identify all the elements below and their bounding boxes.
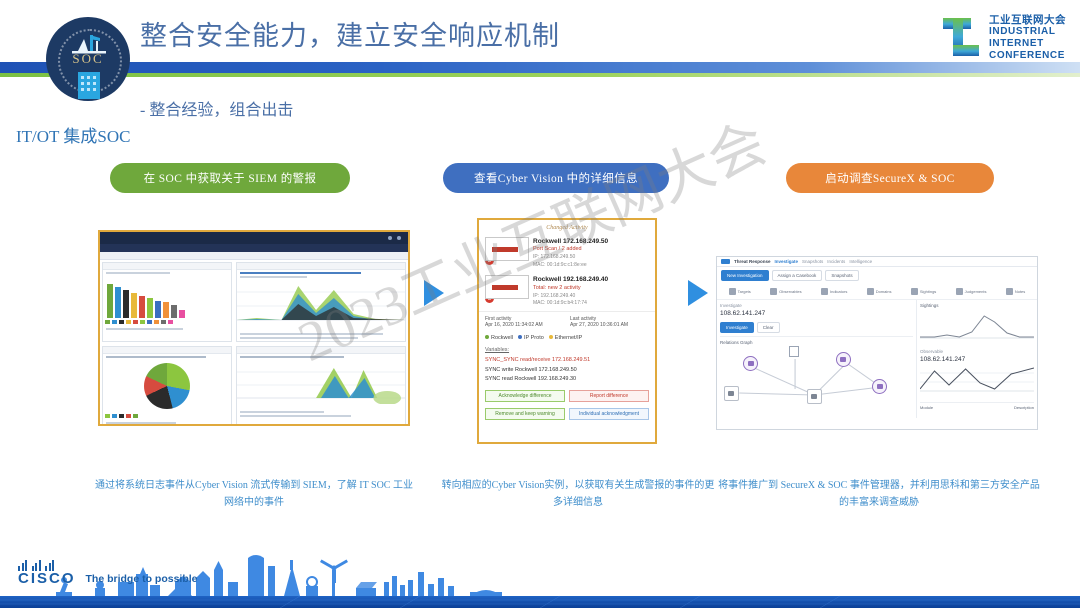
step-caption-1: 通过将系统日志事件从Cyber Vision 流式传输到 SIEM，了解 IT … [92, 478, 416, 511]
flow-arrow-2-icon [688, 280, 708, 306]
step-pill-3[interactable]: 启动调查SecureX & SOC [786, 163, 994, 193]
graph-node-host[interactable] [743, 356, 758, 371]
siem-titlebar [100, 232, 408, 244]
header-stripe-blue [0, 62, 1080, 73]
cv-action-row-1: Acknowledge difference Report difference [479, 387, 655, 405]
module-column-label: Module [920, 405, 933, 410]
securex-titlebar: Threat Response Investigate Snapshots In… [717, 257, 1037, 267]
section-label: IT/OT 集成SOC [16, 122, 130, 147]
securex-detail-pane: Sightings Observable 108.62.141.247 Modu… [917, 300, 1037, 418]
remove-and-keep-warning-button[interactable]: Remove and keep warning [485, 408, 565, 420]
stat-domains: Domains [867, 288, 892, 295]
screenshot-siem-dashboard[interactable] [98, 230, 410, 426]
report-difference-button[interactable]: Report difference [569, 390, 649, 402]
securex-tab-bar: New Investigation Assign a Casebook Snap… [717, 267, 1037, 284]
cv-device-name: Rockwell 192.168.249.40 [533, 275, 608, 284]
stat-judgements: Judgements [956, 288, 987, 295]
cv-title: Changed Activity [479, 220, 655, 234]
cv-variable-item: SYNC_SYNC read/receive 172.168.249.51 [485, 356, 649, 366]
cv-device-mac: MAC: 00:1d:9c:c1:8e:ee [533, 262, 608, 270]
tab-new-investigation[interactable]: New Investigation [721, 270, 769, 281]
individual-acknowledgment-button[interactable]: Individual acknowledgment [569, 408, 649, 420]
relations-graph[interactable] [720, 345, 913, 411]
cv-device-mac: MAC: 00:1d:9c:b4:17:74 [533, 300, 608, 308]
conference-name-line3: CONFERENCE [989, 50, 1066, 62]
cv-device-thumbnail [485, 237, 529, 261]
step-caption-2: 转向相应的Cyber Vision实例，以获取有关生成警报的事件的更多详细信息 [438, 478, 718, 511]
tab-assign-casebook[interactable]: Assign a Casebook [772, 270, 823, 281]
soc-badge-icon: SOC [46, 17, 130, 101]
cv-device-row[interactable]: 2 Rockwell 172.168.249.50 Port Scan / 2 … [479, 234, 655, 272]
bar-chart [103, 276, 231, 318]
pie-chart [144, 363, 190, 409]
screenshot-cyber-vision[interactable]: Changed Activity 2 Rockwell 172.168.249.… [477, 218, 657, 444]
cv-device-status: Total: new 2 activity [533, 285, 608, 293]
clear-button[interactable]: Clear [757, 322, 780, 333]
area-chart-1 [237, 280, 405, 326]
securex-stat-bar: Targets Observables Indicators Domains S… [717, 284, 1037, 300]
sightings-sparkline [920, 308, 1034, 342]
slide: SOC 整合安全能力，建立安全响应机制 - 整合经验，组合出击 IT/OT 集成… [0, 0, 1080, 608]
cv-activity-times: First activity Apr 16, 2020 11:34:02 AM … [479, 311, 655, 332]
relations-graph-label: Relations Graph [720, 336, 913, 345]
step-pill-2[interactable]: 查看Cyber Vision 中的详细信息 [443, 163, 669, 193]
bar-chart-legend [103, 318, 231, 326]
cv-device-ip: IP: 192.168.249.40 [533, 293, 608, 301]
sighting-icon [911, 288, 918, 295]
header-stripe-green [0, 73, 1080, 77]
graph-node-center[interactable] [807, 389, 822, 404]
conference-mark-icon [939, 15, 981, 61]
siem-navbar [100, 244, 408, 252]
observable-icon [770, 288, 777, 295]
cv-last-activity-value: Apr 27, 2020 10:36:01 AM [570, 322, 649, 328]
step-caption-3: 将事件推广到 SecureX & SOC 事件管理器，并利用思科和第三方安全产品… [714, 478, 1044, 511]
soc-badge-label: SOC [46, 51, 130, 67]
acknowledge-difference-button[interactable]: Acknowledge difference [485, 390, 565, 402]
building-icon [78, 72, 100, 99]
step-pill-1[interactable]: 在 SOC 中获取关于 SIEM 的警报 [110, 163, 350, 193]
document-icon [789, 346, 799, 357]
description-column-label: Description [1014, 405, 1034, 410]
stat-targets: Targets [729, 288, 751, 295]
cv-first-activity-value: Apr 16, 2020 11:34:02 AM [485, 322, 564, 328]
footer: CISCO The bridge to possible [0, 552, 1080, 608]
siem-area-chart-panel [236, 262, 406, 342]
flow-arrow-1-icon [424, 280, 444, 306]
siem-bar-chart-panel [102, 262, 232, 342]
cisco-tagline: The bridge to possible [86, 573, 198, 586]
cv-device-thumbnail [485, 275, 529, 299]
cv-tag-list: Rockwell IP Proto Ethernet/IP [479, 332, 655, 344]
cv-variable-item: SYNC read Rockwell 192.168.249.30 [485, 375, 649, 385]
cv-device-row[interactable]: 3 Rockwell 192.168.249.40 Total: new 2 a… [479, 272, 655, 310]
domain-icon [867, 288, 874, 295]
cv-tag: Rockwell [485, 335, 513, 341]
conference-name-line1: INDUSTRIAL [989, 26, 1066, 38]
cv-tag: Ethernet/IP [549, 335, 583, 341]
pie-chart-legend [103, 412, 231, 420]
cv-variables-label: Variables: [485, 346, 649, 356]
graph-node-file[interactable] [836, 352, 851, 367]
cisco-logo: CISCO The bridge to possible [18, 560, 198, 586]
cv-action-row-2: Remove and keep warning Individual ackno… [479, 405, 655, 423]
cisco-wordmark: CISCO [18, 571, 76, 586]
cv-tag: IP Proto [518, 335, 544, 341]
screenshot-securex[interactable]: Threat Response Investigate Snapshots In… [716, 256, 1038, 430]
cv-device-ip: IP: 172.168.249.50 [533, 254, 608, 262]
siem-pie-chart-panel [102, 346, 232, 426]
tab-snapshots[interactable]: Snapshots [825, 270, 858, 281]
observable-ip-value: 108.62.141.247 [720, 308, 913, 319]
conference-name-cn: 工业互联网大会 [989, 14, 1066, 26]
page-subtitle: - 整合经验，组合出击 [140, 96, 293, 120]
cv-variable-item: SYNC write Rockwell 172.168.249.50 [485, 366, 649, 376]
judgement-icon [956, 288, 963, 295]
graph-node-secondary[interactable] [724, 386, 739, 401]
siem-toolbar [100, 252, 408, 260]
area-chart-2 [237, 360, 405, 404]
observable-line-chart [920, 365, 1034, 395]
investigate-button[interactable]: Investigate [720, 322, 754, 333]
cv-variables: Variables: SYNC_SYNC read/receive 172.16… [479, 344, 655, 388]
target-icon [729, 288, 736, 295]
indicator-icon [821, 288, 828, 295]
siem-area-chart-panel-2 [236, 346, 406, 426]
securex-investigate-pane: Investigate 108.62.141.247 Investigate C… [717, 300, 917, 418]
page-title: 整合安全能力，建立安全响应机制 [140, 14, 560, 53]
detail-ip-value: 108.62.141.247 [920, 354, 1034, 365]
conference-logo: 工业互联网大会 INDUSTRIAL INTERNET CONFERENCE [939, 14, 1066, 62]
stat-sightings: Sightings [911, 288, 936, 295]
conference-name-line2: INTERNET [989, 38, 1066, 50]
note-icon [1006, 288, 1013, 295]
cv-device-status: Port Scan / 2 added [533, 246, 608, 254]
stat-notes: Notes [1006, 288, 1025, 295]
cv-device-name: Rockwell 172.168.249.50 [533, 237, 608, 246]
stat-indicators: Indicators [821, 288, 847, 295]
stat-observables: Observables [770, 288, 801, 295]
